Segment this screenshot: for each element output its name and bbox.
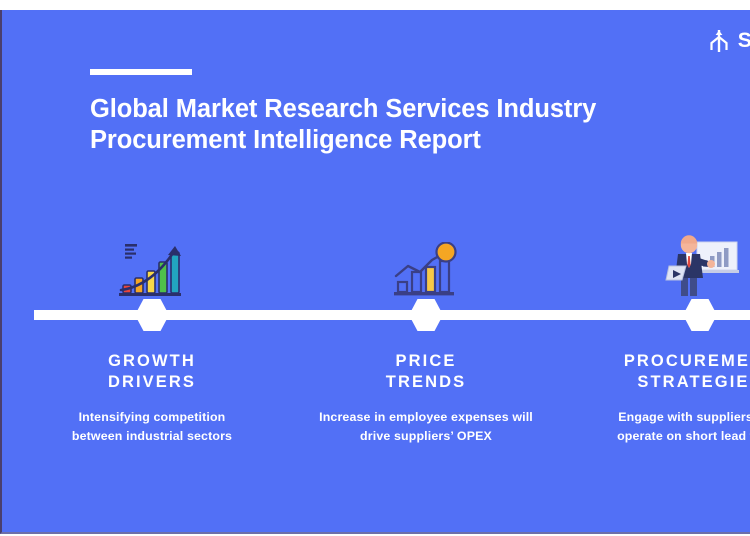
growth-bar-chart-arrow-icon [22,222,282,302]
heading-line-1: PROCUREMENT [624,352,750,370]
brand-logo: Sp [706,28,750,54]
brand-name: Sp [738,29,750,53]
column-heading-growth-drivers: GROWTH DRIVERS [7,351,297,393]
description-line-2: operate on short lead times [617,429,750,443]
heading-line-2: STRATEGIES [637,373,750,391]
timeline-node-2 [409,298,443,332]
spendedge-trident-logo-icon [706,28,732,54]
description-line-1: Increase in employee expenses will [319,410,533,424]
timeline-node-1 [135,298,169,332]
timeline-column-price-trends [296,222,556,302]
column-description-procurement-strategies: Engage with suppliers who operate on sho… [550,408,750,446]
heading-line-2: DRIVERS [108,373,196,391]
heading-line-1: PRICE [396,352,457,370]
description-line-2: drive suppliers’ OPEX [360,429,492,443]
timeline-column-growth-drivers [22,222,282,302]
accent-rule [90,69,192,75]
businessman-presentation-icon [570,222,750,302]
timeline-node-3 [683,298,717,332]
heading-line-2: TRENDS [386,373,466,391]
price-trend-chart-coin-icon [296,222,556,302]
column-description-price-trends: Increase in employee expenses will drive… [276,408,576,446]
column-description-growth-drivers: Intensifying competition between industr… [2,408,302,446]
description-line-2: between industrial sectors [72,429,232,443]
page-title: Global Market Research Services Industry… [90,94,740,156]
timeline-column-procurement-strategies [570,222,750,302]
column-heading-price-trends: PRICE TRENDS [281,351,571,393]
column-heading-procurement-strategies: PROCUREMENT STRATEGIES [550,351,750,393]
description-line-1: Engage with suppliers who [618,410,750,424]
heading-line-1: GROWTH [108,352,196,370]
description-line-1: Intensifying competition [79,410,226,424]
presentation-slide: Sp Global Market Research Services Indus… [0,10,750,534]
